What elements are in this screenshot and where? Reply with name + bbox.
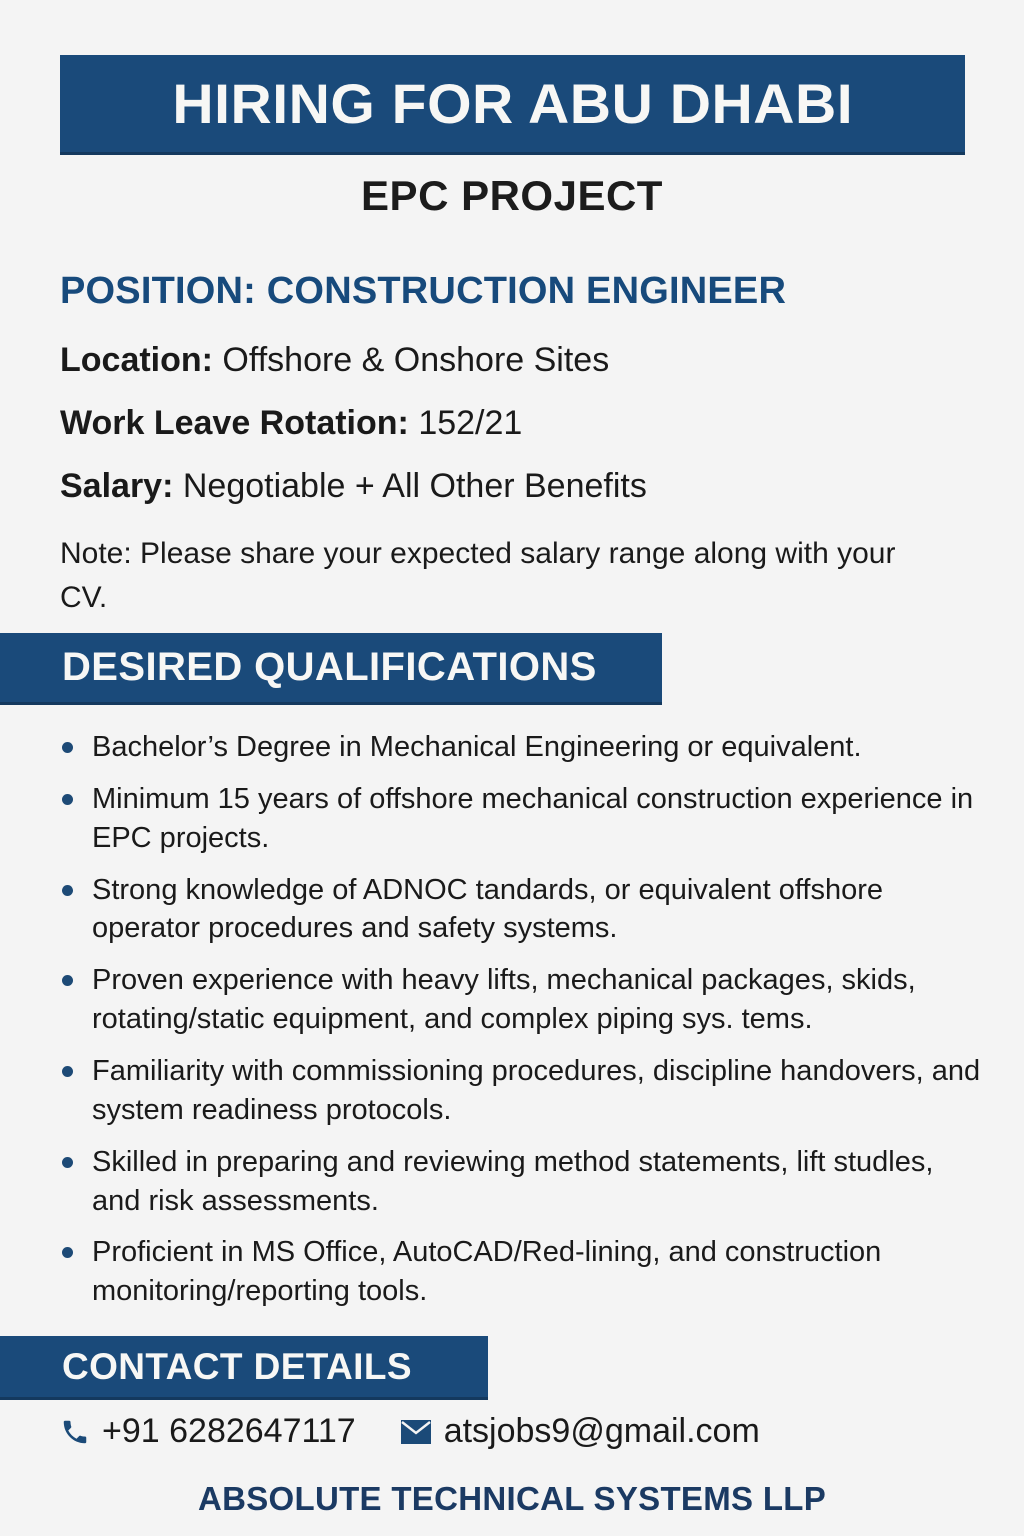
detail-rotation-value: 152/21 [409,404,522,442]
phone-number: +91 6282647117 [102,1412,356,1451]
project-subtitle: EPC PROJECT [0,172,1024,220]
detail-salary: Salary: Negotiable + All Other Benefits [60,467,647,506]
list-item: Proficient in MS Office, AutoCAD/Red-lin… [58,1233,988,1311]
position-headline: POSITION: CONSTRUCTION ENGINEER [60,270,786,313]
list-item-label: Bachelor’s Degree in Mechanical Engineer… [92,731,862,763]
qualifications-list: Bachelor’s Degree in Mechanical Engineer… [58,728,988,1324]
list-item-label: Minimum 15 years of offshore mechanical … [92,783,973,854]
salary-note: Note: Please share your expected salary … [60,532,920,619]
bullet-icon [62,1157,73,1168]
bullet-icon [62,742,73,753]
contact-title: CONTACT DETAILS [62,1346,412,1388]
list-item: Strong knowledge of ADNOC tandards, or e… [58,871,988,949]
list-item-label: Familiarity with commissioning procedure… [92,1055,980,1126]
phone-contact[interactable]: +91 6282647117 [60,1412,356,1451]
bullet-icon [62,794,73,805]
detail-rotation: Work Leave Rotation: 152/21 [60,404,522,443]
list-item-label: Proven experience with heavy lifts, mech… [92,964,916,1035]
contact-banner: CONTACT DETAILS [0,1336,488,1400]
list-item: Familiarity with commissioning procedure… [58,1052,988,1130]
detail-location-value: Offshore & Onshore Sites [213,341,609,379]
header-banner: HIRING FOR ABU DHABI [60,55,965,155]
company-name: ABSOLUTE TECHNICAL SYSTEMS LLP [0,1480,1024,1518]
list-item: Minimum 15 years of offshore mechanical … [58,780,988,858]
list-item: Skilled in preparing and reviewing metho… [58,1143,988,1221]
qualifications-banner: DESIRED QUALIFICATIONS [0,633,662,705]
phone-icon [60,1417,90,1447]
envelope-icon [400,1419,432,1445]
detail-location: Location: Offshore & Onshore Sites [60,341,609,380]
list-item-label: Skilled in preparing and reviewing metho… [92,1146,933,1217]
contact-row: +91 6282647117 atsjobs9@gmail.com [60,1412,980,1451]
job-poster: HIRING FOR ABU DHABI EPC PROJECT POSITIO… [0,0,1024,1536]
list-item-label: Strong knowledge of ADNOC tandards, or e… [92,874,883,945]
bullet-icon [62,885,73,896]
email-contact[interactable]: atsjobs9@gmail.com [400,1412,760,1451]
email-address: atsjobs9@gmail.com [444,1412,760,1451]
bullet-icon [62,1066,73,1077]
bullet-icon [62,1247,73,1258]
detail-salary-value: Negotiable + All Other Benefits [173,467,646,505]
list-item-label: Proficient in MS Office, AutoCAD/Red-lin… [92,1236,881,1307]
detail-salary-label: Salary: [60,467,173,505]
list-item: Proven experience with heavy lifts, mech… [58,961,988,1039]
page-title: HIRING FOR ABU DHABI [172,76,853,132]
list-item: Bachelor’s Degree in Mechanical Engineer… [58,728,988,767]
detail-location-label: Location: [60,341,213,379]
bullet-icon [62,975,73,986]
detail-rotation-label: Work Leave Rotation: [60,404,409,442]
qualifications-title: DESIRED QUALIFICATIONS [62,645,597,690]
